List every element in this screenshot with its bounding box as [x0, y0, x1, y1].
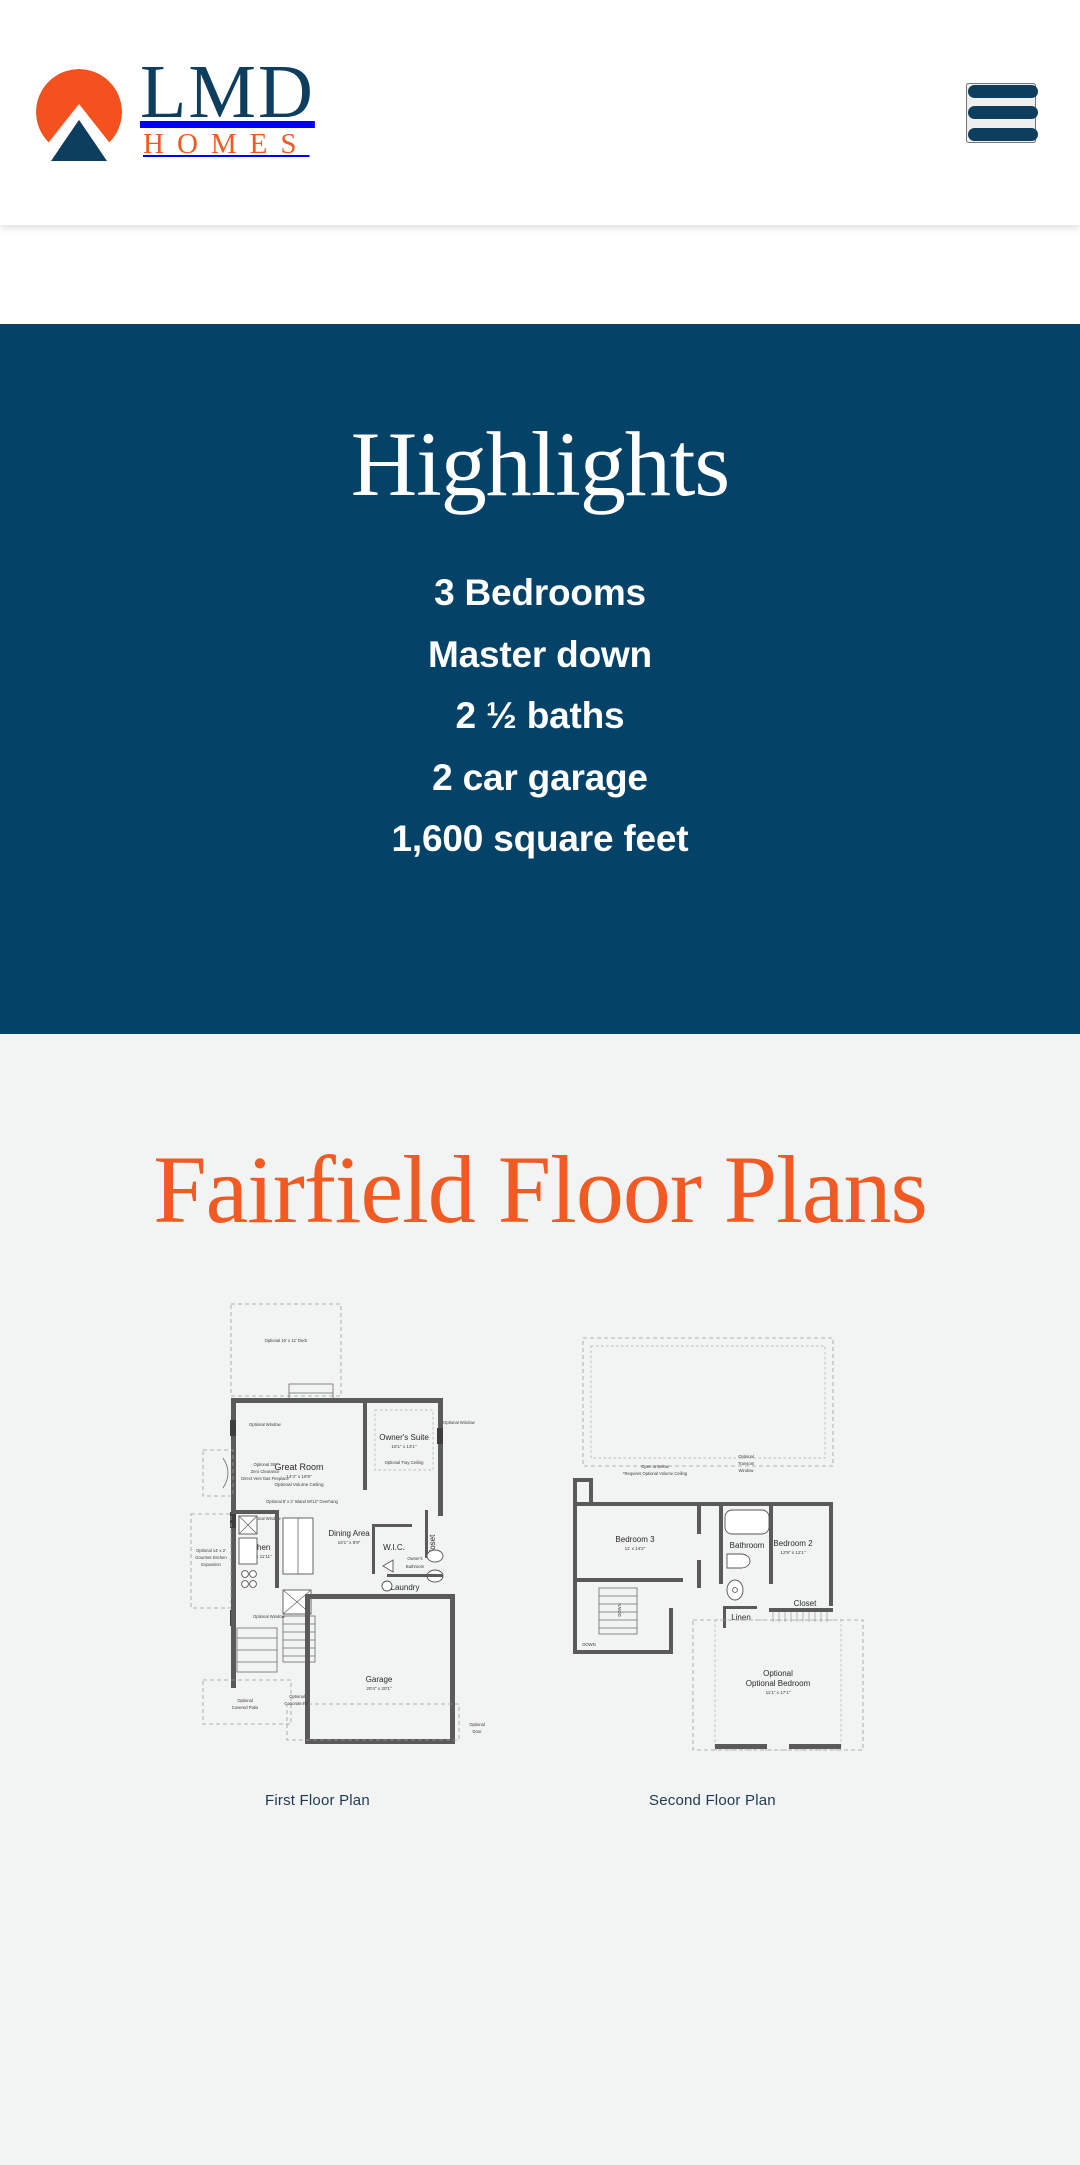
hamburger-bar-3: [968, 128, 1038, 141]
room-dim-optional-bedroom: 11'1" x 17'1": [766, 1690, 791, 1695]
hamburger-menu-icon[interactable]: [966, 83, 1036, 143]
room-label-optional-bedroom-2: Optional Bedroom: [746, 1679, 811, 1688]
room-label-garage: Garage: [366, 1675, 393, 1684]
room-label-laundry: Laundry: [391, 1583, 420, 1592]
room-dim-bedroom-3: 11' x 14'2": [625, 1546, 646, 1551]
room-dim-bedroom-2: 12'9" x 12'1": [780, 1550, 806, 1555]
mountain-circle-logo-icon: [36, 65, 122, 161]
hamburger-bar-2: [968, 106, 1038, 119]
floor-plan-row: Optional 16' x 12' Deck Great Room 14'4"…: [0, 1298, 1080, 1809]
floor-plans-section: Fairfield Floor Plans Optional 16' x 12'…: [0, 1034, 1080, 2165]
annotation-fireplace-3: Direct Vent Gas Fireplace: [241, 1476, 289, 1481]
room-label-great-room: Great Room: [274, 1462, 323, 1472]
annotation-window-right: Optional Window: [443, 1420, 476, 1425]
second-floor-plan-caption: Second Floor Plan: [649, 1792, 893, 1809]
brand-logo-link[interactable]: LMD HOMES: [36, 61, 315, 164]
highlight-item-baths: 2 ½ baths: [456, 695, 625, 738]
room-label-owners-bath-1: Owner's: [407, 1556, 422, 1561]
room-label-wic: W.I.C.: [383, 1543, 405, 1552]
highlight-item-bedrooms: 3 Bedrooms: [434, 572, 646, 615]
annotation-transom-2: Transom: [738, 1461, 755, 1466]
room-dim-dining: 16'1" x 8'9": [338, 1540, 361, 1545]
annotation-island-label: Optional 8' x 2' Island W/12" Overhang: [266, 1499, 338, 1504]
first-floor-plan-caption: First Floor Plan: [265, 1792, 517, 1809]
room-dim-garage: 20'4" x 20'1": [366, 1686, 392, 1691]
annotation-concrete-1: Optional: [289, 1694, 305, 1699]
highlights-list: 3 Bedrooms Master down 2 ½ baths 2 car g…: [392, 572, 689, 861]
brand-wordmark: LMD HOMES: [140, 61, 315, 164]
room-label-owners-bath-2: Bathroom: [406, 1564, 425, 1569]
second-floor-plan-drawing[interactable]: Open to Below *Requires Optional Volume …: [563, 1298, 893, 1768]
first-floor-plan-figure: Optional 16' x 12' Deck Great Room 14'4"…: [187, 1298, 517, 1809]
first-floor-plan-drawing[interactable]: Optional 16' x 12' Deck Great Room 14'4"…: [187, 1298, 517, 1768]
room-dim-owners-suite: 16'1" x 13'1": [391, 1444, 417, 1449]
annotation-door-1: Optional: [469, 1722, 485, 1727]
room-label-dining: Dining Area: [328, 1529, 370, 1538]
highlight-item-garage: 2 car garage: [432, 757, 648, 800]
annotation-open-below-1: Open to Below: [641, 1464, 669, 1469]
room-label-bedroom-3: Bedroom 3: [615, 1535, 655, 1544]
floor-plans-title: Fairfield Floor Plans: [153, 1142, 927, 1238]
annotation-stairs-down-2: DOWN: [582, 1642, 595, 1647]
annotation-open-below-2: *Requires Optional Volume Ceiling: [623, 1471, 688, 1476]
site-header: LMD HOMES: [0, 0, 1080, 225]
room-label-owners-suite: Owner's Suite: [379, 1433, 429, 1442]
room-note-owners-suite: Optional Tray Ceiling: [385, 1460, 425, 1465]
highlight-item-squarefeet: 1,600 square feet: [392, 818, 689, 861]
brand-subtitle: HOMES: [140, 125, 315, 164]
room-label-bathroom: Bathroom: [730, 1541, 765, 1550]
annotation-covered-patio-2: Covered Patio: [232, 1705, 259, 1710]
room-note-great-room: Optional Volume Ceiling: [274, 1482, 323, 1487]
annotation-stairs-down-1: DOWN: [617, 1603, 622, 1616]
annotation-concrete-2: Concrete Flat: [284, 1701, 310, 1706]
room-label-linen: Linen: [731, 1613, 751, 1622]
annotation-gourmet-3: Expansion: [201, 1562, 221, 1567]
annotation-transom-1: Optional: [738, 1454, 754, 1459]
annotation-fireplace-1: Optional 36": [254, 1462, 277, 1467]
annotation-gourmet-1: Optional 14' x 2': [196, 1548, 226, 1553]
annotation-deck-1: Optional 16' x 12' Deck: [265, 1338, 309, 1343]
annotation-covered-patio-1: Optional: [237, 1698, 253, 1703]
second-floor-plan-figure: Open to Below *Requires Optional Volume …: [563, 1298, 893, 1809]
annotation-door-2: Door: [472, 1729, 482, 1734]
highlights-section: Highlights 3 Bedrooms Master down 2 ½ ba…: [0, 324, 1080, 1034]
annotation-window-left-3: Optional Window: [253, 1614, 286, 1619]
room-dim-great-room: 14'4" x 16'9": [286, 1474, 312, 1479]
room-label-optional-bedroom-1: Optional: [763, 1669, 793, 1678]
room-label-closet-2f: Closet: [794, 1599, 817, 1608]
annotation-fireplace-2: Zero Clearance: [251, 1469, 281, 1474]
header-spacer: [0, 225, 1080, 324]
highlight-item-master: Master down: [428, 634, 652, 677]
annotation-window-left-1: Optional Window: [249, 1422, 282, 1427]
hamburger-bar-1: [968, 85, 1038, 98]
room-label-bedroom-2: Bedroom 2: [773, 1539, 813, 1548]
brand-name: LMD: [140, 61, 315, 125]
highlights-title: Highlights: [351, 418, 729, 510]
annotation-transom-3: Window: [739, 1468, 755, 1473]
annotation-gourmet-2: Gourmet Kitchen: [195, 1555, 227, 1560]
